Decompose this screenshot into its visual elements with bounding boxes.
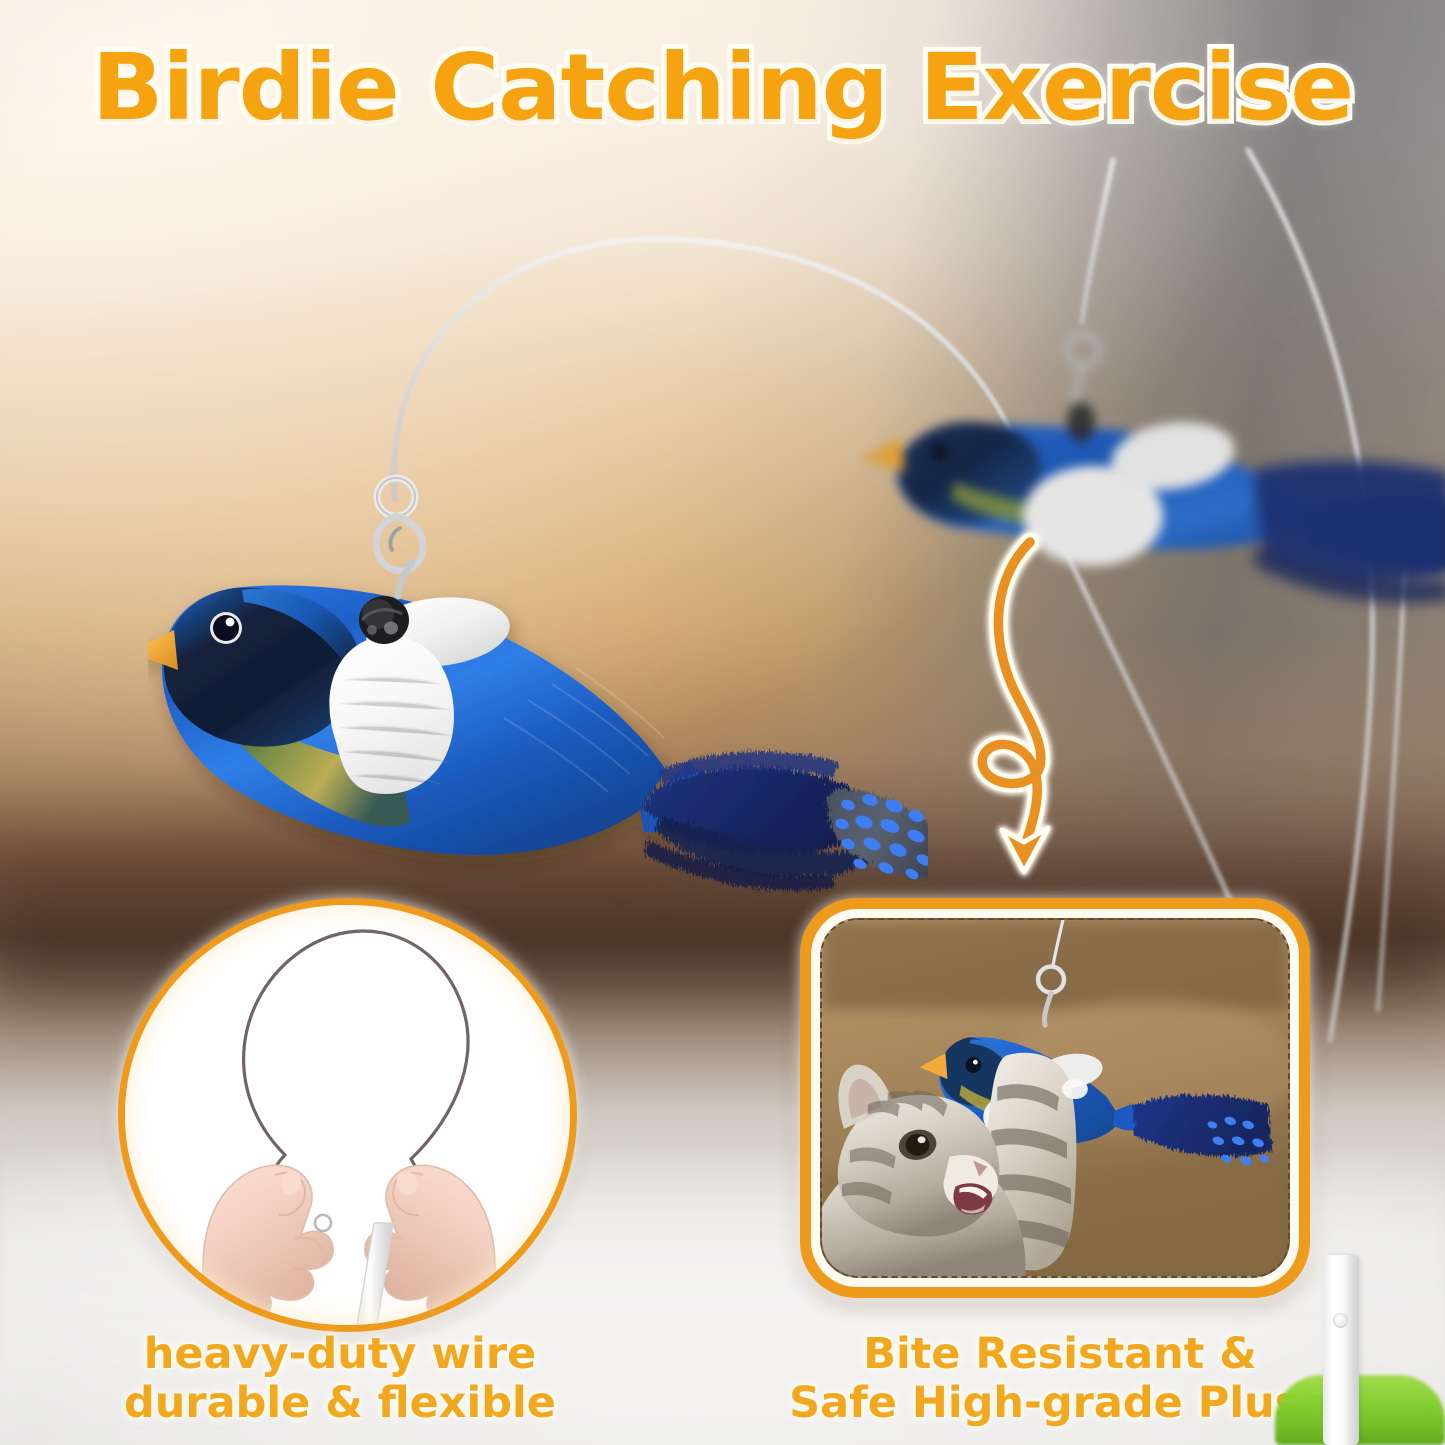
toy-stand-pole [1323, 1255, 1359, 1445]
second-bird-eye [930, 443, 948, 461]
bell [359, 596, 409, 644]
inset-photo-frame [820, 918, 1290, 1278]
product-marketing-image: heavy-duty wire durable & flexible Bite … [0, 0, 1445, 1445]
plush-bird-toy [148, 470, 928, 980]
bird-feather-tail [642, 752, 928, 891]
caption-right-line2: Safe High-grade Plush [760, 1379, 1360, 1428]
caption-left-line2: durable & flexible [60, 1379, 620, 1428]
bird-belly-patch [329, 636, 454, 794]
lobster-clasp [376, 516, 423, 596]
caption-left-line1: heavy-duty wire [60, 1330, 620, 1379]
inset-heavy-duty-wire [118, 898, 577, 1332]
inset-white-band [811, 909, 1299, 1287]
second-bird-bell [1067, 402, 1095, 442]
second-bird-beak [861, 438, 905, 472]
wire-second-bird [1082, 160, 1113, 322]
caption-heavy-duty-wire: heavy-duty wire durable & flexible [60, 1330, 620, 1428]
page-title: Birdie Catching Exercise [0, 34, 1445, 141]
toy-stand-knob [1333, 1313, 1348, 1328]
second-bird-tail-extension [1255, 450, 1445, 690]
inset-bite-resistant-photo [800, 898, 1310, 1298]
second-bird-clasp [1067, 334, 1099, 406]
bird-eye [210, 612, 242, 644]
curved-loop-arrow [952, 500, 1102, 900]
bird-beak [148, 630, 178, 670]
toy-stand-base [1275, 1375, 1445, 1445]
caption-bite-resistant: Bite Resistant & Safe High-grade Plush [760, 1330, 1360, 1428]
caption-right-line1: Bite Resistant & [760, 1330, 1360, 1379]
